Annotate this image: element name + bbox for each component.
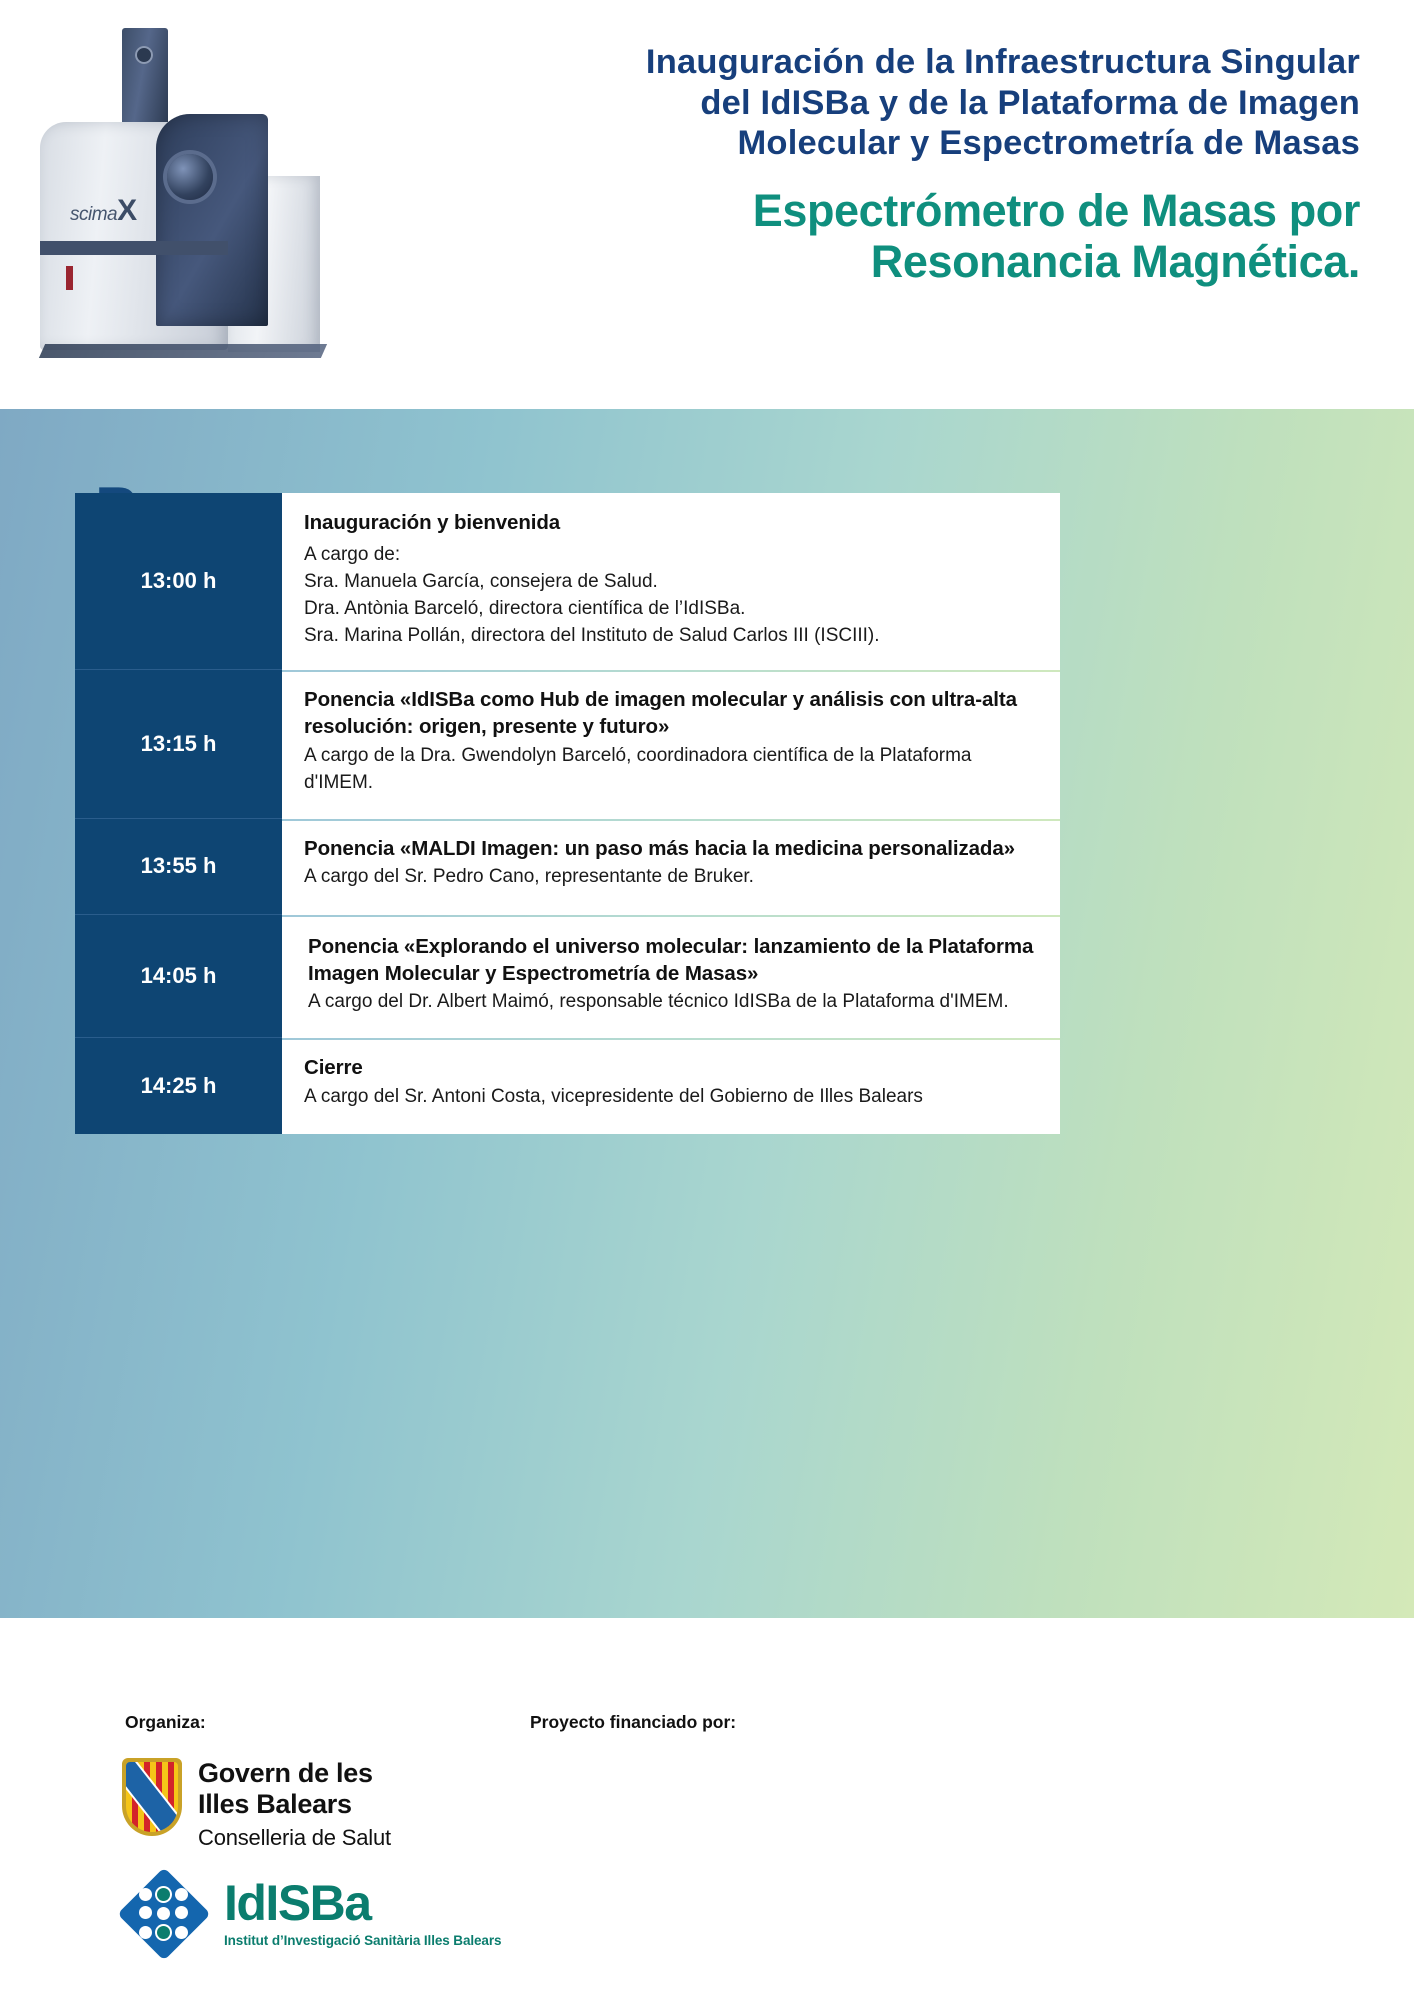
row-title: Inauguración y bienvenida [304, 509, 1038, 536]
row-title: Ponencia «IdISBa como Hub de imagen mole… [304, 686, 1038, 741]
instrument-tower [122, 28, 168, 124]
row-time: 14:25 h [75, 1038, 282, 1134]
instrument-base-shadow [39, 344, 327, 358]
instrument-band [40, 241, 228, 255]
dot-center [157, 1907, 170, 1920]
subtitle: Espectrómetro de Masas por Resonancia Ma… [360, 186, 1360, 287]
govern-line-1: Govern de les [198, 1758, 391, 1789]
row-description: Ponencia «Explorando el universo molecul… [282, 915, 1060, 1038]
table-row: 13:00 h Inauguración y bienvenida A carg… [75, 493, 1060, 670]
shield-blue-band [126, 1762, 178, 1832]
program-section: Programa 13:00 h Inauguración y bienveni… [0, 409, 1414, 1618]
dot-lower-right [175, 1926, 188, 1939]
main-title-line-3: Molecular y Espectrometría de Masas [360, 123, 1360, 164]
shield-stripes [126, 1762, 178, 1832]
organiza-label: Organiza: [125, 1712, 206, 1733]
dot-lower-left [139, 1926, 152, 1939]
row-line: A cargo de: [304, 542, 1038, 569]
main-title-line-2: del IdISBa y de la Plataforma de Imagen [360, 83, 1360, 124]
idisba-tagline: Institut d’Investigació Sanitària Illes … [224, 1933, 501, 1948]
dot-left [139, 1906, 152, 1919]
row-description: Ponencia «IdISBa como Hub de imagen mole… [282, 670, 1060, 818]
header-titles: Inauguración de la Infraestructura Singu… [360, 42, 1360, 287]
idisba-text: IdISBa Institut d’Investigació Sanitària… [224, 1880, 501, 1948]
main-title-line-1: Inauguración de la Infraestructura Singu… [360, 42, 1360, 83]
row-line: A cargo del Sr. Antoni Costa, vicepresid… [304, 1084, 1038, 1111]
poster-root: scimaX Inauguración de la Infraestructur… [0, 0, 1414, 2000]
subtitle-line-1: Espectrómetro de Masas por [360, 186, 1360, 236]
dot-upper-left [139, 1888, 152, 1901]
govern-line-2: Illes Balears [198, 1789, 391, 1820]
dot-upper-right [175, 1888, 188, 1901]
instrument-brand-text: scima [70, 204, 117, 225]
instrument-brand-x: X [117, 194, 137, 227]
idisba-name: IdISBa [224, 1880, 501, 1928]
row-time: 13:15 h [75, 670, 282, 818]
dot-bottom-green [157, 1926, 170, 1939]
row-line: Sra. Manuela García, consejera de Salud. [304, 569, 1038, 596]
financiado-label: Proyecto financiado por: [530, 1712, 736, 1733]
idisba-logo: IdISBa Institut d’Investigació Sanitària… [118, 1868, 501, 1960]
instrument-port-icon [167, 154, 213, 200]
main-title: Inauguración de la Infraestructura Singu… [360, 42, 1360, 164]
row-time: 13:00 h [75, 493, 282, 670]
row-title: Ponencia «MALDI Imagen: un paso más haci… [304, 835, 1038, 862]
table-row: 14:25 h Cierre A cargo del Sr. Antoni Co… [75, 1038, 1060, 1134]
row-line: A cargo del Sr. Pedro Cano, representant… [304, 864, 1038, 891]
row-description: Ponencia «MALDI Imagen: un paso más haci… [282, 819, 1060, 915]
row-body: A cargo de: Sra. Manuela García, conseje… [304, 542, 1038, 650]
row-time: 14:05 h [75, 915, 282, 1038]
row-line: A cargo de la Dra. Gwendolyn Barceló, co… [304, 743, 1038, 797]
balearic-shield-icon [122, 1758, 182, 1836]
program-table: 13:00 h Inauguración y bienvenida A carg… [75, 493, 1060, 1134]
row-time: 13:55 h [75, 819, 282, 915]
dot-right [175, 1906, 188, 1919]
table-row: 13:15 h Ponencia «IdISBa como Hub de ima… [75, 670, 1060, 818]
row-line: Dra. Antònia Barceló, directora científi… [304, 596, 1038, 623]
mass-spectrometer-image: scimaX [36, 26, 346, 356]
row-line: Sra. Marina Pollán, directora del Instit… [304, 623, 1038, 650]
table-row: 13:55 h Ponencia «MALDI Imagen: un paso … [75, 819, 1060, 915]
govern-line-3: Conselleria de Salut [198, 1825, 391, 1851]
govern-illes-balears-logo: Govern de les Illes Balears Conselleria … [122, 1758, 391, 1851]
instrument-indicator-icon [66, 266, 73, 290]
poster-footer: Organiza: Proyecto financiado por: Gover… [0, 1618, 1414, 2000]
govern-text: Govern de les Illes Balears Conselleria … [198, 1758, 391, 1851]
row-title: Cierre [304, 1054, 1038, 1081]
subtitle-line-2: Resonancia Magnética. [360, 237, 1360, 287]
poster-header: scimaX Inauguración de la Infraestructur… [0, 0, 1414, 409]
idisba-diamond-icon [118, 1868, 210, 1960]
row-description: Cierre A cargo del Sr. Antoni Costa, vic… [282, 1038, 1060, 1134]
instrument-front-panel [156, 114, 268, 326]
row-line: A cargo del Dr. Albert Maimó, responsabl… [308, 989, 1038, 1016]
row-description: Inauguración y bienvenida A cargo de: Sr… [282, 493, 1060, 670]
row-title: Ponencia «Explorando el universo molecul… [308, 933, 1038, 988]
table-row: 14:05 h Ponencia «Explorando el universo… [75, 915, 1060, 1038]
instrument-brand-label: scimaX [70, 194, 137, 228]
dot-top-green [157, 1888, 170, 1901]
